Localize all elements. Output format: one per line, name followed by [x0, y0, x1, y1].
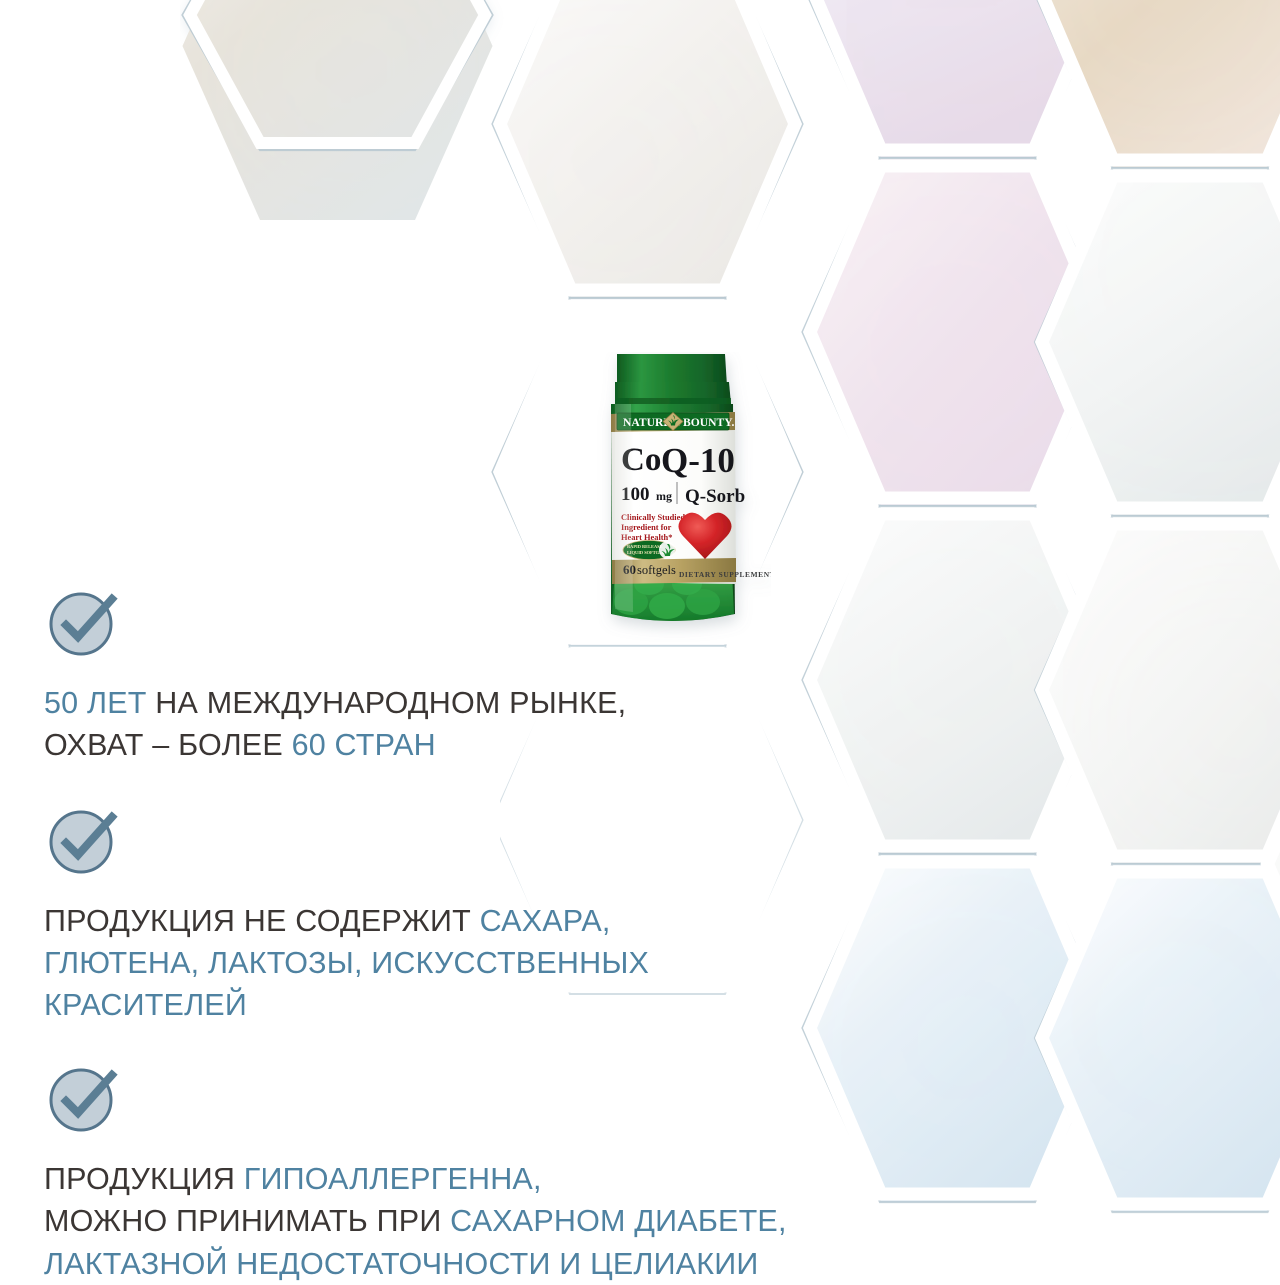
benefit-line: ОХВАТ – БОЛЕЕ 60 СТРАН	[44, 724, 924, 766]
bottle-form: Q-Sorb	[685, 486, 745, 507]
benefit-item-2: ПРОДУКЦИЯ НЕ СОДЕРЖИТ САХАРА,ГЛЮТЕНА, ЛА…	[44, 804, 924, 1026]
benefit-plain: ПРОДУКЦИЯ	[44, 1162, 244, 1196]
benefit-highlight: 50 ЛЕТ	[44, 686, 147, 720]
benefit-highlight: САХАРНОМ ДИАБЕТЕ,	[450, 1204, 787, 1238]
benefit-plain: ПРОДУКЦИЯ НЕ СОДЕРЖИТ	[44, 904, 480, 938]
benefit-plain: ОХВАТ – БОЛЕЕ	[44, 728, 292, 762]
benefit-plain: НА МЕЖДУНАРОДНОМ РЫНКЕ,	[147, 686, 627, 720]
benefit-highlight: ГЛЮТЕНА, ЛАКТОЗЫ, ИСКУССТВЕННЫХ	[44, 946, 649, 980]
benefit-highlight: 60 СТРАН	[292, 728, 436, 762]
benefit-line: КРАСИТЕЛЕЙ	[44, 984, 924, 1026]
bottle-supplement-text: DIETARY SUPPLEMENT	[679, 570, 771, 579]
benefit-text-1: 50 ЛЕТ НА МЕЖДУНАРОДНОМ РЫНКЕ,ОХВАТ – БО…	[44, 682, 924, 766]
bottle-brand2-text: BOUNTY.	[683, 416, 735, 429]
benefit-highlight: КРАСИТЕЛЕЙ	[44, 988, 247, 1022]
bottle-name-right: Q-10	[661, 441, 735, 480]
benefit-highlight: САХАРА,	[480, 904, 611, 938]
benefit-highlight: ЛАКТАЗНОЙ НЕДОСТАТОЧНОСТИ И ЦЕЛИАКИИ	[44, 1247, 758, 1281]
benefit-text-3: ПРОДУКЦИЯ ГИПОАЛЛЕРГЕННА,МОЖНО ПРИНИМАТЬ…	[44, 1158, 924, 1284]
benefit-line: ПРОДУКЦИЯ ГИПОАЛЛЕРГЕННА,	[44, 1158, 924, 1200]
check-circle-icon	[44, 1062, 122, 1138]
check-circle-icon	[44, 804, 122, 880]
bottle-count-unit: softgels	[637, 563, 676, 577]
benefit-plain: МОЖНО ПРИНИМАТЬ ПРИ	[44, 1204, 450, 1238]
benefit-line: 50 ЛЕТ НА МЕЖДУНАРОДНОМ РЫНКЕ,	[44, 682, 924, 724]
benefit-text-2: ПРОДУКЦИЯ НЕ СОДЕРЖИТ САХАРА,ГЛЮТЕНА, ЛА…	[44, 900, 924, 1026]
benefit-highlight: ГИПОАЛЛЕРГЕННА,	[244, 1162, 542, 1196]
benefits-list: 50 ЛЕТ НА МЕЖДУНАРОДНОМ РЫНКЕ,ОХВАТ – БО…	[44, 586, 924, 1285]
benefit-line: ГЛЮТЕНА, ЛАКТОЗЫ, ИСКУССТВЕННЫХ	[44, 942, 924, 984]
benefit-line: МОЖНО ПРИНИМАТЬ ПРИ САХАРНОМ ДИАБЕТЕ,	[44, 1200, 924, 1242]
benefit-item-3: ПРОДУКЦИЯ ГИПОАЛЛЕРГЕННА,МОЖНО ПРИНИМАТЬ…	[44, 1062, 924, 1284]
benefit-line: ПРОДУКЦИЯ НЕ СОДЕРЖИТ САХАРА,	[44, 900, 924, 942]
benefit-item-1: 50 ЛЕТ НА МЕЖДУНАРОДНОМ РЫНКЕ,ОХВАТ – БО…	[44, 586, 924, 766]
benefit-line: ЛАКТАЗНОЙ НЕДОСТАТОЧНОСТИ И ЦЕЛИАКИИ	[44, 1243, 924, 1285]
bottle-dose-unit: mg	[656, 489, 672, 503]
check-circle-icon	[44, 586, 122, 662]
